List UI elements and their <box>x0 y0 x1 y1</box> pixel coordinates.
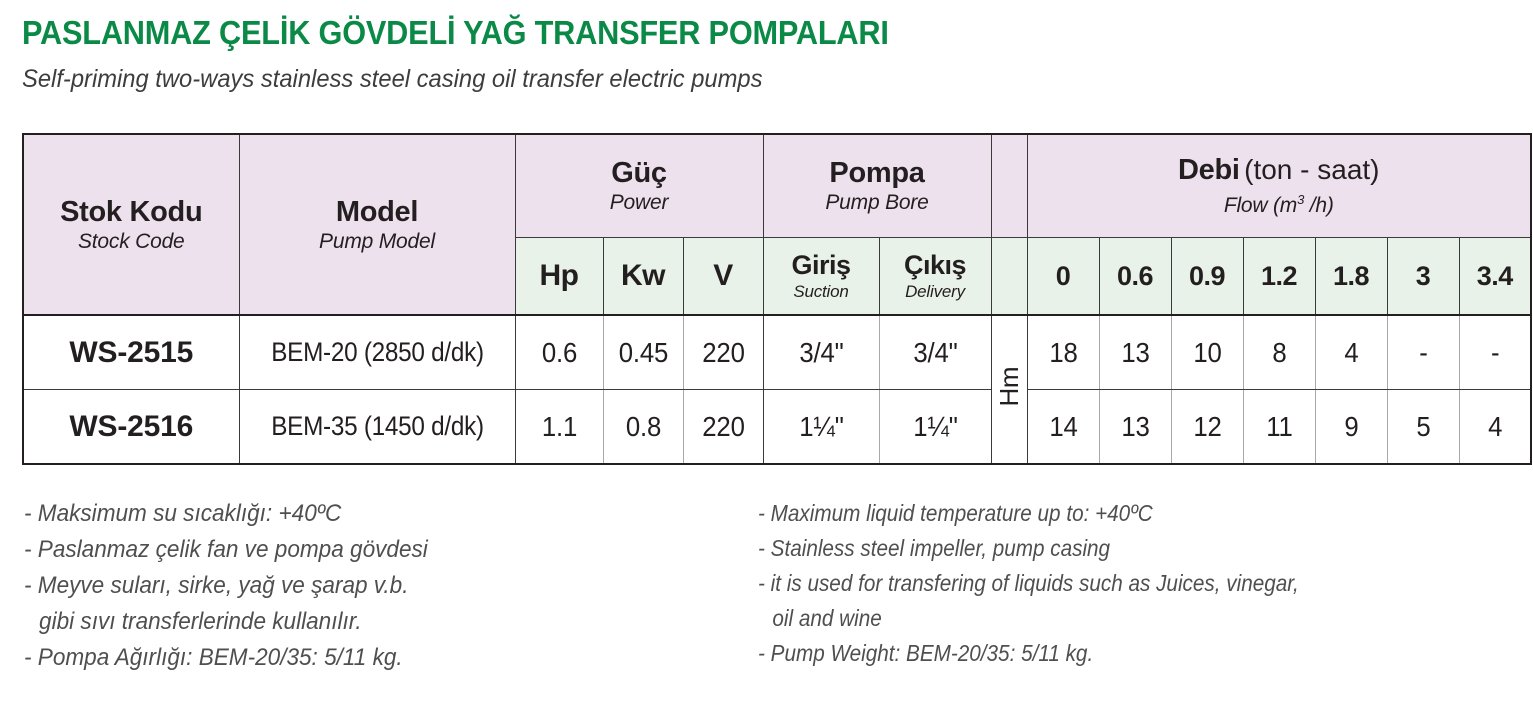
cell-flow-4: 4 <box>1315 315 1387 390</box>
header-pump-bore-en: Pump Bore <box>764 190 991 216</box>
cell-flow-1: 13 <box>1099 390 1171 465</box>
hp-value: 0.6 <box>519 337 599 369</box>
header-power-en: Power <box>516 190 763 216</box>
cell-flow-3: 8 <box>1243 315 1315 390</box>
cell-kw: 0.8 <box>603 390 683 465</box>
subheader-flow-4: 1.8 <box>1315 238 1387 316</box>
cell-flow-1: 13 <box>1099 315 1171 390</box>
flow-value-1: 13 <box>1102 411 1167 443</box>
subheader-delivery-tr: Çıkış <box>880 250 991 281</box>
v-value: 220 <box>687 411 760 443</box>
cell-flow-4: 9 <box>1315 390 1387 465</box>
note-line: - Paslanmaz çelik fan ve pompa gövdesi <box>24 532 682 568</box>
cell-flow-5: 5 <box>1387 390 1459 465</box>
subheader-hm-spacer <box>991 238 1027 316</box>
flow-value-2: 10 <box>1174 337 1239 369</box>
note-line: - Pompa Ağırlığı: BEM-20/35: 5/11 kg. <box>24 640 682 676</box>
cell-delivery: 1¼" <box>879 390 991 465</box>
subheader-flow-3: 1.2 <box>1243 238 1315 316</box>
subheader-hp: Hp <box>515 238 603 316</box>
cell-hm-label: Hm <box>991 315 1027 464</box>
header-pump-bore: Pompa Pump Bore <box>763 134 991 238</box>
stock-code-value: WS-2515 <box>69 336 193 369</box>
flow-value-0: 18 <box>1030 337 1095 369</box>
model-value: BEM-35 (1450 d/dk) <box>253 411 501 442</box>
delivery-value: 3/4" <box>884 337 986 369</box>
page-subtitle: Self-priming two-ways stainless steel ca… <box>22 64 1438 94</box>
cell-flow-3: 11 <box>1243 390 1315 465</box>
notes-turkish: - Maksimum su sıcaklığı: +40ºC - Paslanm… <box>24 496 724 676</box>
cell-suction: 3/4" <box>763 315 879 390</box>
header-flow-tr-bold: Debi <box>1178 154 1240 186</box>
cell-model: BEM-20 (2850 d/dk) <box>239 315 515 390</box>
cell-v: 220 <box>683 390 763 465</box>
header-flow-en: Flow (m3 /h) <box>1028 187 1531 219</box>
notes-section: - Maksimum su sıcaklığı: +40ºC - Paslanm… <box>0 496 1533 701</box>
subheader-v: V <box>683 238 763 316</box>
cell-flow-2: 10 <box>1171 315 1243 390</box>
flow-value-5: 5 <box>1390 411 1455 443</box>
header-power-tr: Güç <box>516 156 763 190</box>
cell-v: 220 <box>683 315 763 390</box>
subheader-flow-2: 0.9 <box>1171 238 1243 316</box>
cell-flow-6: - <box>1459 315 1531 390</box>
cell-hp: 0.6 <box>515 315 603 390</box>
kw-value: 0.45 <box>607 337 680 369</box>
delivery-value: 1¼" <box>884 411 986 443</box>
subheader-delivery: Çıkış Delivery <box>879 238 991 316</box>
header-hm-spacer <box>991 134 1027 238</box>
v-value: 220 <box>687 337 760 369</box>
subheader-flow-1: 0.6 <box>1099 238 1171 316</box>
cell-kw: 0.45 <box>603 315 683 390</box>
header-stock-code-tr: Stok Kodu <box>24 195 239 229</box>
table-row: WS-2516 BEM-35 (1450 d/dk) 1.1 0.8 220 1… <box>23 390 1531 465</box>
note-line: gibi sıvı transferlerinde kullanılır. <box>24 604 682 640</box>
flow-value-5: - <box>1390 337 1455 369</box>
flow-value-2: 12 <box>1174 411 1239 443</box>
subheader-kw: Kw <box>603 238 683 316</box>
note-line: - Stainless steel impeller, pump casing <box>758 531 1456 566</box>
header-pump-bore-tr: Pompa <box>764 156 991 190</box>
cell-stock-code: WS-2515 <box>23 315 239 390</box>
header-model-en: Pump Model <box>240 229 515 255</box>
flow-value-1: 13 <box>1102 337 1167 369</box>
page-title: PASLANMAZ ÇELİK GÖVDELİ YAĞ TRANSFER POM… <box>22 14 1408 52</box>
flow-value-4: 4 <box>1318 337 1383 369</box>
cell-hp: 1.1 <box>515 390 603 465</box>
subheader-suction: Giriş Suction <box>763 238 879 316</box>
flow-value-6: 4 <box>1462 411 1527 443</box>
header-flow: Debi (ton - saat) Flow (m3 /h) <box>1027 134 1531 238</box>
header-flow-tr: Debi (ton - saat) <box>1028 153 1531 187</box>
stock-code-value: WS-2516 <box>69 410 193 443</box>
cell-delivery: 3/4" <box>879 315 991 390</box>
subheader-flow-6: 3.4 <box>1459 238 1531 316</box>
note-line: - Meyve suları, sirke, yağ ve şarap v.b. <box>24 568 682 604</box>
hm-label: Hm <box>996 367 1022 406</box>
cell-flow-5: - <box>1387 315 1459 390</box>
flow-value-4: 9 <box>1318 411 1383 443</box>
cell-flow-2: 12 <box>1171 390 1243 465</box>
note-line: - Pump Weight: BEM-20/35: 5/11 kg. <box>758 636 1456 671</box>
header-flow-en-tail: /h) <box>1304 194 1334 217</box>
suction-value: 1¼" <box>768 411 874 443</box>
subheader-flow-5: 3 <box>1387 238 1459 316</box>
subheader-suction-tr: Giriş <box>764 250 879 281</box>
specifications-table: Stok Kodu Stock Code Model Pump Model Gü… <box>22 133 1532 465</box>
flow-value-0: 14 <box>1030 411 1095 443</box>
cell-flow-0: 18 <box>1027 315 1099 390</box>
flow-value-6: - <box>1462 337 1527 369</box>
hp-value: 1.1 <box>519 411 599 443</box>
cell-stock-code: WS-2516 <box>23 390 239 465</box>
subheader-flow-0: 0 <box>1027 238 1099 316</box>
kw-value: 0.8 <box>607 411 680 443</box>
note-line: - Maksimum su sıcaklığı: +40ºC <box>24 496 682 532</box>
flow-value-3: 8 <box>1246 337 1311 369</box>
table-row: WS-2515 BEM-20 (2850 d/dk) 0.6 0.45 220 … <box>23 315 1531 390</box>
notes-english: - Maximum liquid temperature up to: +40º… <box>758 496 1533 671</box>
note-line: oil and wine <box>758 601 1456 636</box>
cell-model: BEM-35 (1450 d/dk) <box>239 390 515 465</box>
header-flow-en-text: Flow (m <box>1224 194 1297 217</box>
subheader-delivery-en: Delivery <box>880 281 991 302</box>
header-stock-code-en: Stock Code <box>24 229 239 255</box>
subheader-suction-en: Suction <box>764 281 879 302</box>
header-flow-tr-unit: (ton - saat) <box>1244 154 1379 185</box>
suction-value: 3/4" <box>768 337 874 369</box>
cell-suction: 1¼" <box>763 390 879 465</box>
flow-value-3: 11 <box>1246 411 1311 443</box>
cell-flow-6: 4 <box>1459 390 1531 465</box>
title-block: PASLANMAZ ÇELİK GÖVDELİ YAĞ TRANSFER POM… <box>22 14 1512 94</box>
note-line: - Maximum liquid temperature up to: +40º… <box>758 496 1456 531</box>
table-header-row-primary: Stok Kodu Stock Code Model Pump Model Gü… <box>23 134 1531 238</box>
cell-flow-0: 14 <box>1027 390 1099 465</box>
header-model: Model Pump Model <box>239 134 515 315</box>
header-model-tr: Model <box>240 195 515 229</box>
header-stock-code: Stok Kodu Stock Code <box>23 134 239 315</box>
model-value: BEM-20 (2850 d/dk) <box>253 337 501 368</box>
note-line: - it is used for transfering of liquids … <box>758 566 1456 601</box>
header-power: Güç Power <box>515 134 763 238</box>
